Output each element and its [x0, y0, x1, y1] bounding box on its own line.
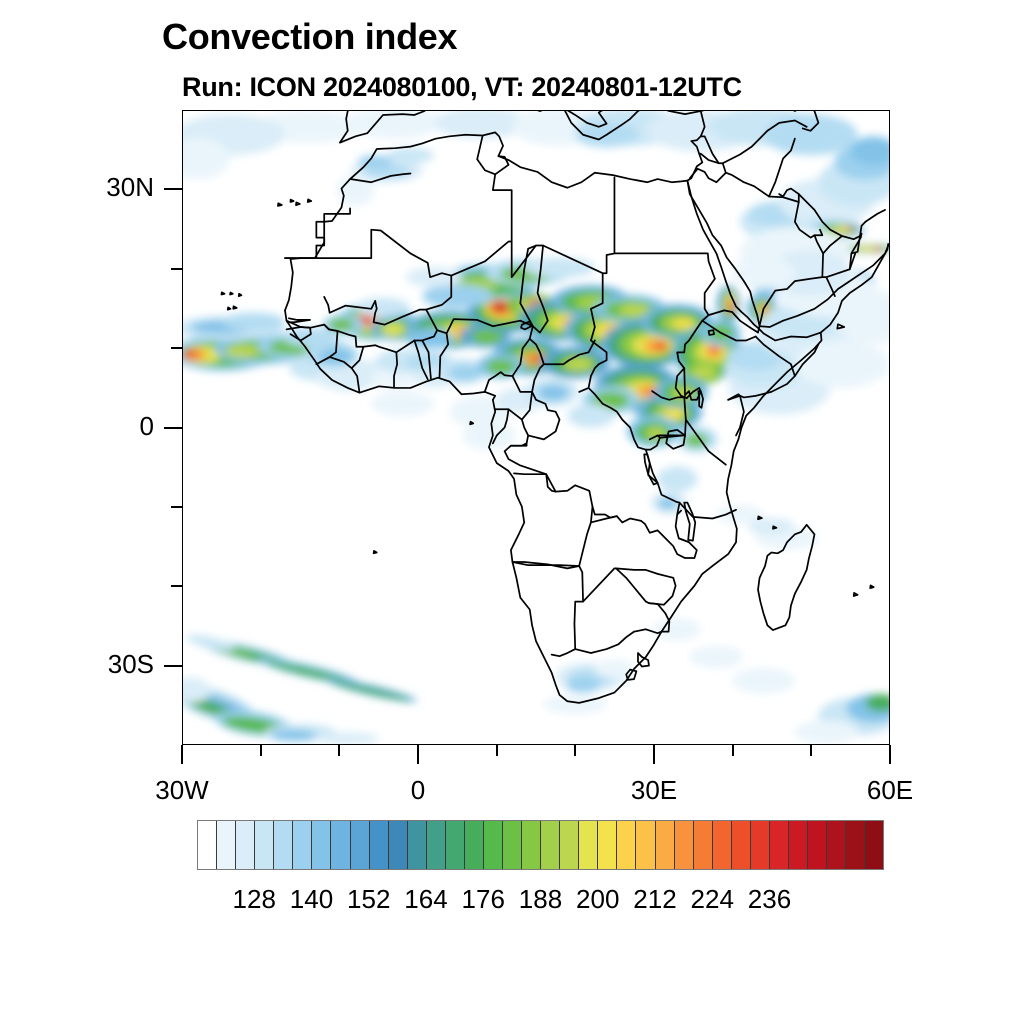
colorbar-cell — [236, 821, 255, 869]
colorbar-cell — [389, 821, 408, 869]
colorbar-cell — [770, 821, 789, 869]
x-tick-label: 30W — [112, 775, 252, 806]
colorbar-cell — [427, 821, 446, 869]
page-title: Convection index — [162, 16, 457, 58]
map-canvas — [183, 111, 889, 744]
colorbar — [197, 820, 884, 870]
y-tick-minor — [171, 347, 182, 349]
colorbar-cell — [312, 821, 331, 869]
colorbar-cell — [675, 821, 694, 869]
colorbar-cell — [465, 821, 484, 869]
colorbar-cell — [503, 821, 522, 869]
colorbar-cell — [351, 821, 370, 869]
x-tick-label: 60E — [820, 775, 960, 806]
colorbar-cell — [808, 821, 827, 869]
x-tick-major — [889, 745, 891, 764]
colorbar-cell — [751, 821, 770, 869]
x-tick-minor — [338, 745, 340, 756]
y-tick-label: 0 — [72, 411, 154, 442]
colorbar-cell — [331, 821, 350, 869]
colorbar-cell — [560, 821, 579, 869]
x-tick-label: 30E — [584, 775, 724, 806]
colorbar-cell — [598, 821, 617, 869]
colorbar-cell — [656, 821, 675, 869]
colorbar-cell — [846, 821, 865, 869]
x-tick-minor — [574, 745, 576, 756]
colorbar-cell — [408, 821, 427, 869]
colorbar-cell — [636, 821, 655, 869]
colorbar-cell — [484, 821, 503, 869]
y-tick-minor — [171, 268, 182, 270]
x-tick-minor — [260, 745, 262, 756]
x-tick-minor — [810, 745, 812, 756]
colorbar-cell — [541, 821, 560, 869]
y-tick-minor — [171, 585, 182, 587]
colorbar-cell — [732, 821, 751, 869]
colorbar-cell — [274, 821, 293, 869]
x-tick-major — [417, 745, 419, 764]
map-plot-area — [182, 110, 890, 745]
colorbar-cell — [293, 821, 312, 869]
colorbar-cell — [370, 821, 389, 869]
x-tick-minor — [496, 745, 498, 756]
x-tick-major — [181, 745, 183, 764]
convection-field-layer — [183, 111, 889, 744]
colorbar-cell — [579, 821, 598, 869]
y-tick-label: 30S — [72, 649, 154, 680]
convection-index-figure: Convection index Run: ICON 2024080100, V… — [0, 0, 1024, 1024]
y-tick-major — [164, 188, 182, 190]
colorbar-cell — [789, 821, 808, 869]
x-tick-label: 0 — [348, 775, 488, 806]
colorbar-cell — [198, 821, 217, 869]
colorbar-cell — [827, 821, 846, 869]
y-tick-major — [164, 665, 182, 667]
colorbar-tick-label: 236 — [720, 884, 820, 915]
colorbar-cell — [713, 821, 732, 869]
y-tick-minor — [171, 506, 182, 508]
colorbar-cell — [694, 821, 713, 869]
colorbar-cell — [865, 821, 883, 869]
colorbar-cell — [217, 821, 236, 869]
colorbar-cell — [446, 821, 465, 869]
colorbar-cell — [255, 821, 274, 869]
colorbar-cell — [617, 821, 636, 869]
colorbar-cell — [522, 821, 541, 869]
x-tick-minor — [732, 745, 734, 756]
x-tick-major — [653, 745, 655, 764]
y-tick-label: 30N — [72, 172, 154, 203]
page-subtitle: Run: ICON 2024080100, VT: 20240801-12UTC — [182, 72, 742, 103]
y-tick-major — [164, 427, 182, 429]
